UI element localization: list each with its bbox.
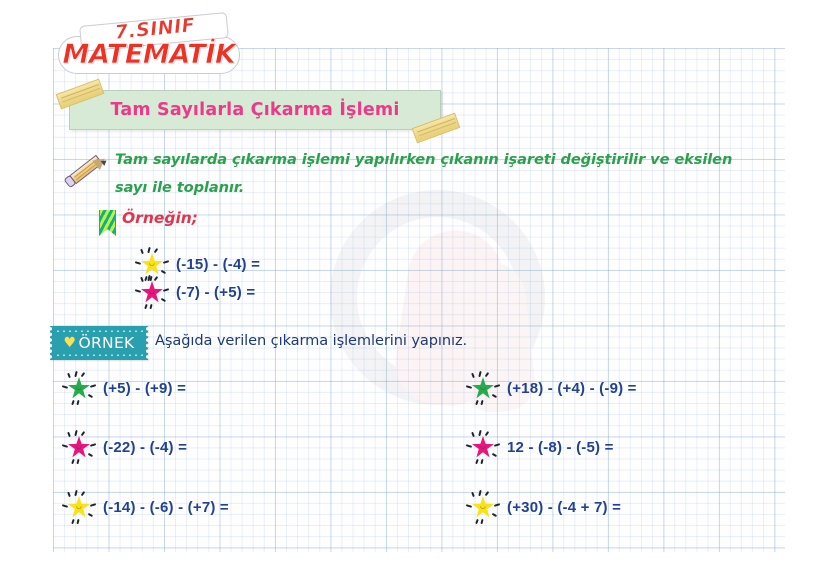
brand-logo: 7.SINIF MATEMATİK bbox=[52, 10, 252, 76]
exercise-item: ◡ (+30) - (-4 + 7) = bbox=[466, 490, 621, 524]
star-face: ◡ bbox=[472, 443, 494, 449]
exercise-expression: (+30) - (-4 + 7) = bbox=[507, 499, 621, 516]
ornek-badge-label: ÖRNEK bbox=[78, 334, 134, 352]
star-icon: ◡ bbox=[135, 275, 169, 309]
exercise-item: ◡ 12 - (-8) - (-5) = bbox=[466, 430, 614, 464]
star-icon: ◡ bbox=[62, 371, 96, 405]
star-icon: ◡ bbox=[466, 371, 500, 405]
rule-block: Tam sayılarda çıkarma işlemi yapılırken … bbox=[115, 146, 765, 202]
rule-text: Tam sayılarda çıkarma işlemi yapılırken … bbox=[115, 146, 765, 202]
example-intro-label: Örneğin; bbox=[122, 209, 198, 227]
exercise-item: ◡ (+5) - (+9) = bbox=[62, 371, 186, 405]
heart-icon: ♥ bbox=[63, 337, 76, 350]
star-icon: ◡ bbox=[62, 490, 96, 524]
badge-left-edge bbox=[49, 326, 52, 360]
badge-right-edge bbox=[146, 326, 149, 360]
star-face: ◡ bbox=[141, 288, 163, 294]
exercise-expression: 12 - (-8) - (-5) = bbox=[507, 439, 614, 456]
star-face: ◡ bbox=[68, 384, 90, 390]
exercise-expression: (-22) - (-4) = bbox=[103, 439, 187, 456]
exercise-expression: (+5) - (+9) = bbox=[103, 380, 186, 397]
bookmark-shape bbox=[99, 210, 116, 236]
example-expression: (-7) - (+5) = bbox=[176, 284, 255, 301]
exercise-expression: (+18) - (+4) - (-9) = bbox=[507, 380, 637, 397]
logo-subject-text: MATEMATİK bbox=[58, 39, 240, 70]
exercise-item: ◡ (-22) - (-4) = bbox=[62, 430, 187, 464]
instruction-text: Aşağıda verilen çıkarma işlemlerini yapı… bbox=[155, 332, 467, 349]
star-face: ◡ bbox=[472, 503, 494, 509]
example-expression: (-15) - (-4) = bbox=[176, 256, 260, 273]
star-icon: ◡ bbox=[466, 490, 500, 524]
star-face: ◡ bbox=[68, 503, 90, 509]
exercise-item: ◡ (-14) - (-6) - (+7) = bbox=[62, 490, 229, 524]
star-face: ◡ bbox=[472, 384, 494, 390]
worksheet-page: 7.SINIF MATEMATİK Tam Sayılarla Çıkarma … bbox=[0, 0, 828, 586]
exercise-expression: (-14) - (-6) - (+7) = bbox=[103, 499, 229, 516]
ornek-badge: ♥ ÖRNEK bbox=[50, 326, 148, 360]
exercise-item: ◡ (+18) - (+4) - (-9) = bbox=[466, 371, 637, 405]
star-face: ◡ bbox=[141, 260, 163, 266]
pencil-icon bbox=[64, 150, 112, 192]
example-item: ◡ (-7) - (+5) = bbox=[135, 275, 255, 309]
page-title: Tam Sayılarla Çıkarma İşlemi bbox=[69, 90, 441, 130]
bookmark-icon bbox=[99, 210, 116, 236]
star-face: ◡ bbox=[68, 443, 90, 449]
title-banner: Tam Sayılarla Çıkarma İşlemi bbox=[55, 86, 455, 134]
star-icon: ◡ bbox=[466, 430, 500, 464]
star-icon: ◡ bbox=[62, 430, 96, 464]
